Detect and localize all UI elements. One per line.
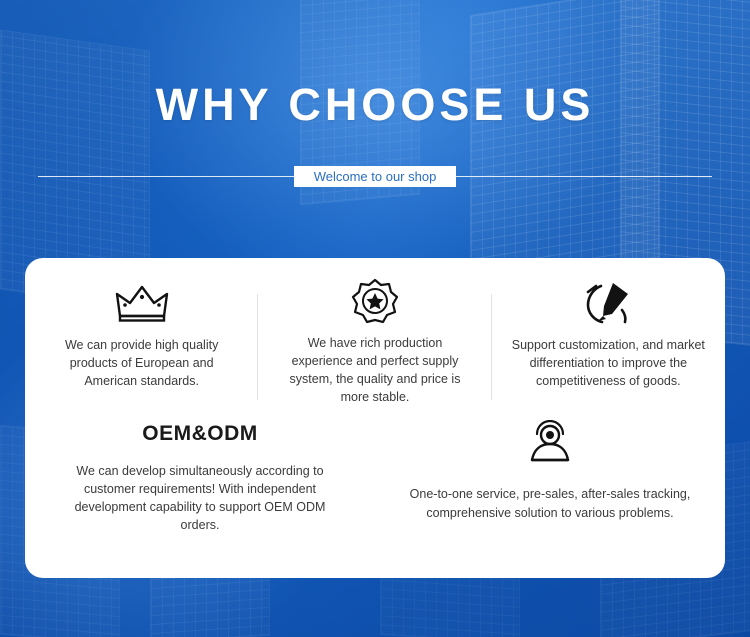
why-choose-us-banner: WHY CHOOSE US Welcome to our shop We can…: [0, 0, 750, 637]
feature-item-customization: Support customization, and market differ…: [492, 276, 725, 406]
feature-text: We can develop simultaneously according …: [65, 462, 335, 535]
feature-text: One-to-one service, pre-sales, after-sal…: [405, 485, 695, 523]
medal-star-icon: [350, 276, 400, 328]
feature-text: We have rich production experience and p…: [276, 334, 473, 407]
features-card: We can provide high quality products of …: [25, 258, 725, 578]
crown-icon: [115, 276, 169, 330]
headset-support-icon: [526, 420, 574, 471]
subtitle-bar: Welcome to our shop: [38, 165, 712, 187]
sky-glow: [120, 0, 640, 300]
feature-item-experience: We have rich production experience and p…: [258, 276, 491, 406]
subtitle-label: Welcome to our shop: [294, 166, 457, 187]
feature-item-quality: We can provide high quality products of …: [25, 276, 258, 406]
pencil-ruler-icon: [582, 276, 634, 330]
features-row-top: We can provide high quality products of …: [25, 258, 725, 406]
features-row-bottom: OEM&ODM We can develop simultaneously ac…: [25, 406, 725, 566]
feature-item-oem-odm: OEM&ODM We can develop simultaneously ac…: [25, 406, 375, 566]
divider-left: [38, 176, 294, 177]
feature-text: Support customization, and market differ…: [510, 336, 707, 390]
feature-text: We can provide high quality products of …: [43, 336, 240, 390]
page-title: WHY CHOOSE US: [0, 82, 750, 127]
oem-odm-title: OEM&ODM: [142, 422, 258, 446]
divider-right: [456, 176, 712, 177]
feature-item-service: One-to-one service, pre-sales, after-sal…: [375, 406, 725, 566]
